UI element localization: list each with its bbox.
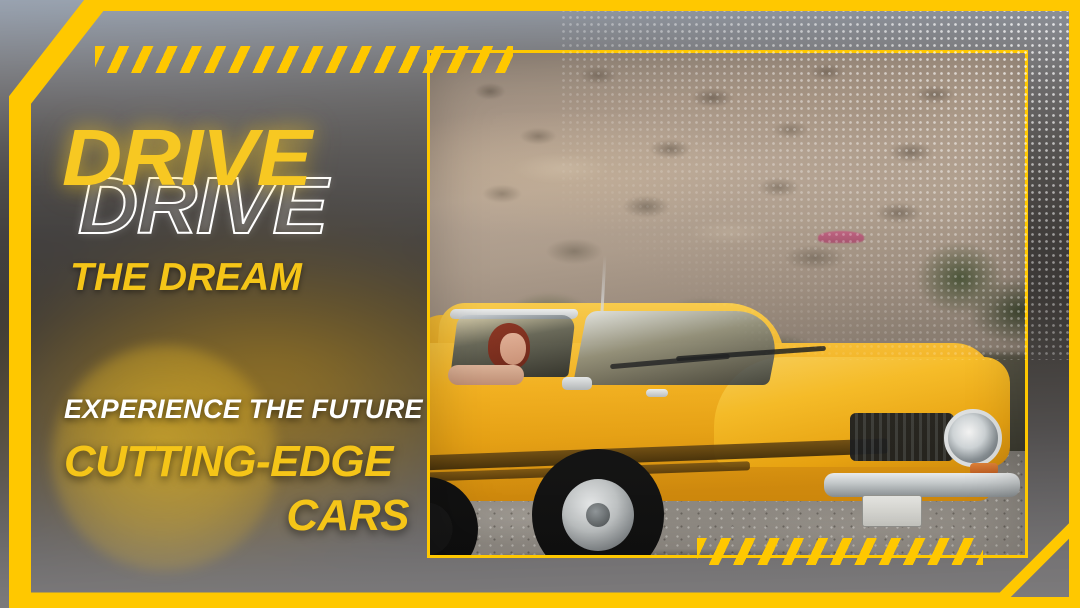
wordmark: DRIVE DRIVE [62,118,422,248]
wordmark-solid-text: DRIVE [62,118,311,198]
promo-line-two: CARS [64,494,409,538]
copy-block: DRIVE DRIVE THE DREAM EXPERIENCE THE FUT… [0,0,427,608]
poster-canvas: DRIVE DRIVE THE DREAM EXPERIENCE THE FUT… [0,0,1080,608]
promo-line-one: CUTTING-EDGE [64,440,393,484]
headline-subtitle: THE DREAM [70,258,302,297]
promo-eyebrow: EXPERIENCE THE FUTURE [64,396,423,423]
